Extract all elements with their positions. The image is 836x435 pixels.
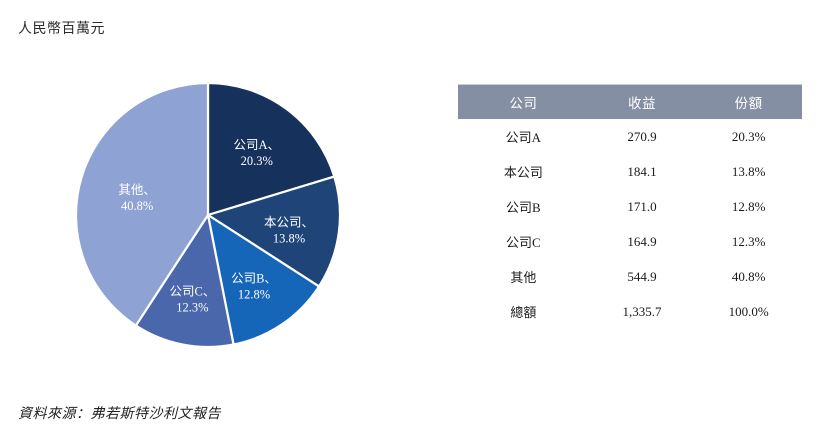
- table-row: 總額1,335.7100.0%: [458, 294, 802, 329]
- cell-share: 20.3%: [695, 119, 802, 154]
- source-note: 資料來源：弗若斯特沙利文報告: [18, 403, 221, 423]
- cell-share: 100.0%: [695, 294, 802, 329]
- chart-unit-label: 人民幣百萬元: [18, 18, 105, 38]
- column-header-revenue: 收益: [589, 85, 696, 120]
- cell-revenue: 270.9: [589, 119, 696, 154]
- cell-share: 12.3%: [695, 224, 802, 259]
- cell-revenue: 164.9: [589, 224, 696, 259]
- pie-slice-label-name: 公司C、: [169, 284, 215, 298]
- cell-share: 13.8%: [695, 154, 802, 189]
- table-row: 公司C164.912.3%: [458, 224, 802, 259]
- cell-company: 公司B: [458, 189, 589, 224]
- pie-slice-label-percent: 12.8%: [238, 288, 270, 302]
- table-row: 公司A270.920.3%: [458, 119, 802, 154]
- table-row: 公司B171.012.8%: [458, 189, 802, 224]
- table-row: 其他544.940.8%: [458, 259, 802, 294]
- cell-revenue: 1,335.7: [589, 294, 696, 329]
- table-header: 公司 收益 份額: [458, 85, 802, 120]
- revenue-share-table: 公司 收益 份額 公司A270.920.3%本公司184.113.8%公司B17…: [458, 84, 802, 329]
- pie-slice-label-percent: 13.8%: [273, 231, 305, 245]
- cell-revenue: 544.9: [589, 259, 696, 294]
- cell-company: 本公司: [458, 154, 589, 189]
- pie-slice-label-percent: 12.3%: [176, 300, 208, 314]
- cell-share: 40.8%: [695, 259, 802, 294]
- cell-revenue: 171.0: [589, 189, 696, 224]
- cell-company: 總額: [458, 294, 589, 329]
- cell-company: 公司C: [458, 224, 589, 259]
- cell-share: 12.8%: [695, 189, 802, 224]
- cell-company: 其他: [458, 259, 589, 294]
- pie-slice-label-name: 公司B、: [231, 272, 277, 286]
- cell-company: 公司A: [458, 119, 589, 154]
- pie-chart: 公司A、20.3%本公司、13.8%公司B、12.8%公司C、12.3%其他、4…: [38, 45, 378, 385]
- table-row: 本公司184.113.8%: [458, 154, 802, 189]
- cell-revenue: 184.1: [589, 154, 696, 189]
- pie-slice-label-percent: 20.3%: [241, 154, 273, 168]
- pie-slice-label-name: 其他、: [118, 183, 156, 197]
- pie-slice-label-name: 本公司、: [264, 215, 314, 229]
- pie-chart-svg: 公司A、20.3%本公司、13.8%公司B、12.8%公司C、12.3%其他、4…: [38, 45, 378, 385]
- column-header-share: 份額: [695, 85, 802, 120]
- column-header-company: 公司: [458, 85, 589, 120]
- table-header-row: 公司 收益 份額: [458, 85, 802, 120]
- table-body: 公司A270.920.3%本公司184.113.8%公司B171.012.8%公…: [458, 119, 802, 329]
- pie-slice-label-percent: 40.8%: [121, 199, 153, 213]
- pie-slice-label-name: 公司A、: [233, 138, 280, 152]
